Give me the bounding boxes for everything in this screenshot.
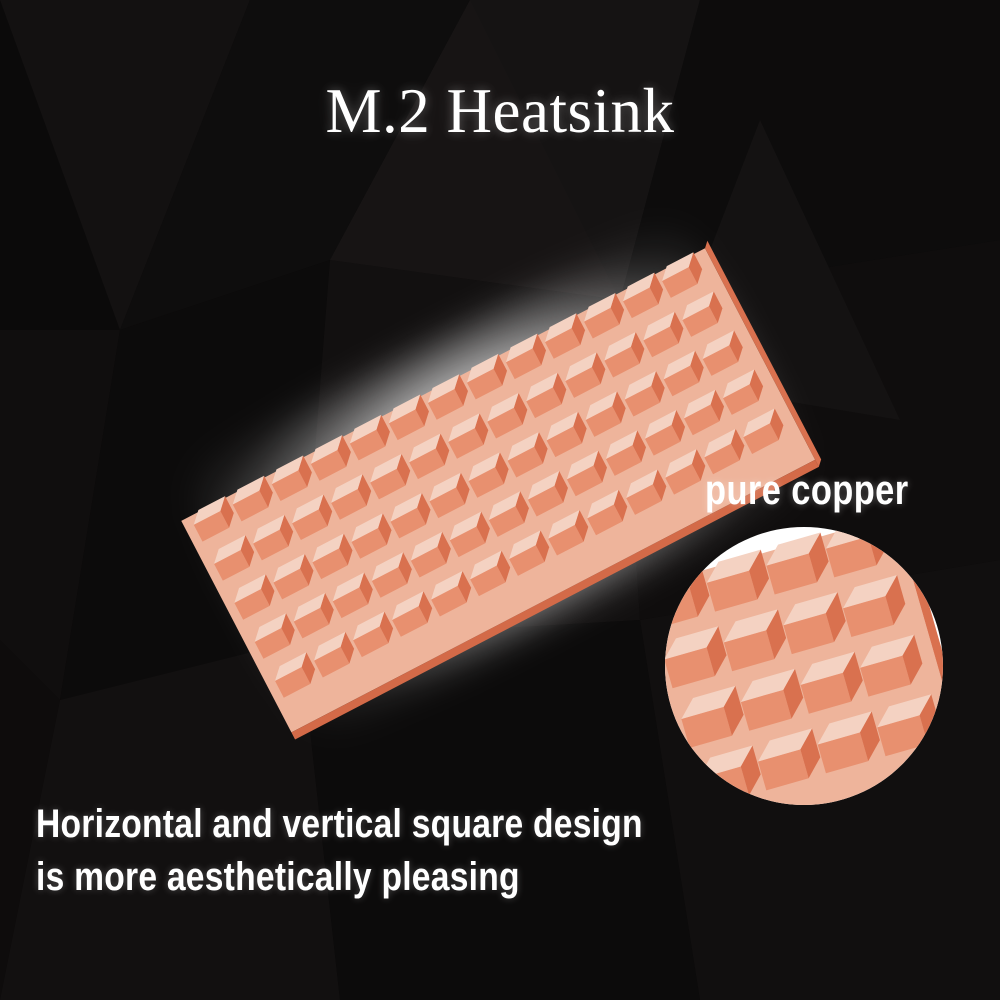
detail-fin-array — [665, 527, 943, 805]
product-banner: M.2 Heatsink pure copper Horizontal and … — [0, 0, 1000, 1000]
detail-zoom-circle — [665, 527, 943, 805]
material-callout-label: pure copper — [705, 466, 909, 514]
feature-line-1: Horizontal and vertical square design — [36, 798, 643, 851]
feature-line-2: is more aesthetically pleasing — [36, 851, 643, 904]
page-title: M.2 Heatsink — [0, 78, 1000, 144]
feature-description: Horizontal and vertical square design is… — [36, 798, 643, 904]
